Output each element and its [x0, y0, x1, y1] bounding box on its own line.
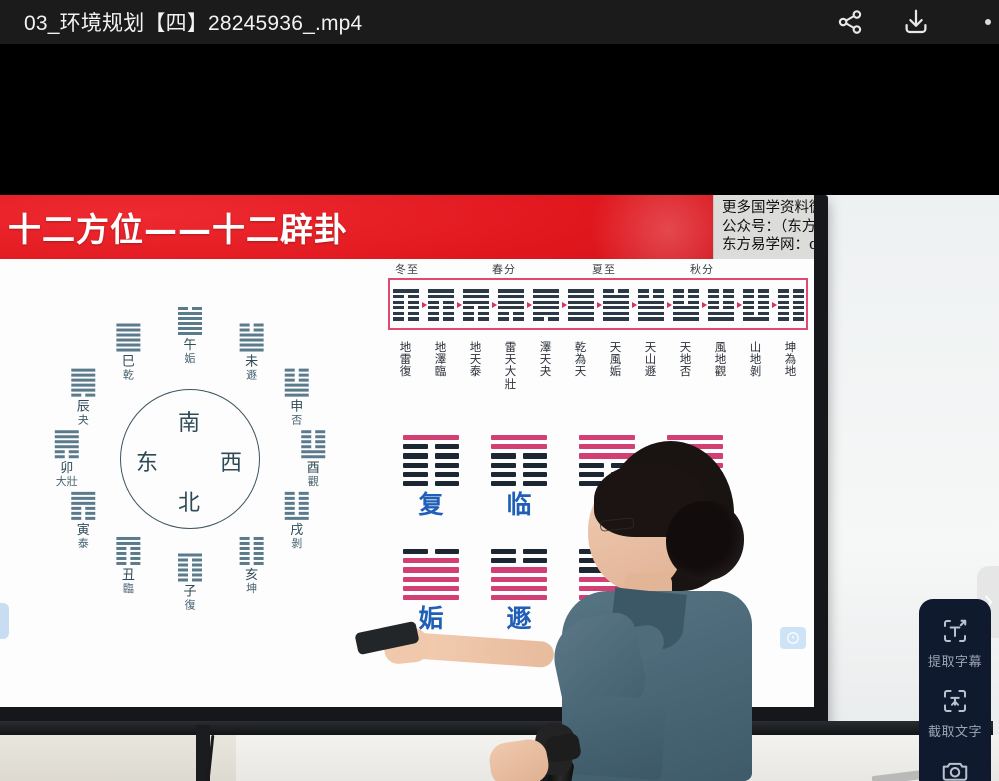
spoke-hexagram-symbol — [285, 492, 309, 520]
presenter — [516, 441, 766, 781]
earthly-branch-label: 午 — [178, 338, 202, 351]
slide-title-banner: 十二方位——十二辟卦 — [0, 195, 713, 259]
earthly-branch-label: 巳 — [116, 354, 140, 367]
hexagram-cell: 天地否 — [668, 289, 703, 320]
capture-text-button[interactable]: 截取文字 — [919, 681, 991, 747]
extract-subtitle-icon — [940, 616, 970, 646]
hexagram-name: 地雷復 — [396, 341, 416, 377]
spoke-hexagram-name: 乾 — [116, 370, 140, 381]
hexagram-cell: 乾為天 — [563, 289, 598, 320]
hexagram-cell: 澤天夬 — [528, 289, 563, 320]
spoke-hexagram-name: 夬 — [71, 415, 95, 426]
video-player-stage[interactable]: 十二方位——十二辟卦 更多国学资料微信：447039585 公众号：（东方易学堂… — [0, 44, 999, 781]
spoke-hexagram-symbol — [116, 324, 140, 352]
watermark-area: 更多国学资料微信：447039585 公众号：（东方易学堂6） 东方易学网：df… — [713, 195, 814, 259]
hexagram-name: 乾為天 — [571, 341, 591, 377]
more-icon[interactable] — [985, 19, 991, 25]
hexagram-name: 地天泰 — [466, 341, 486, 377]
hexagram-name: 坤為地 — [781, 341, 801, 377]
hexagram-symbol — [533, 289, 559, 320]
hexagram-cell: 雷天大壯 — [493, 289, 528, 320]
spoke-hexagram-name: 坤 — [240, 583, 264, 594]
spoke-hexagram-name: 泰 — [71, 538, 95, 549]
hexagram-symbol — [778, 289, 804, 320]
screenshot-icon — [940, 756, 970, 781]
board-hexagram-item: 姤 — [400, 549, 462, 631]
capture-text-icon — [940, 686, 970, 716]
header-actions — [835, 7, 985, 37]
watermark-line-1: 更多国学资料微信：447039585 — [722, 199, 814, 218]
spoke-hexagram-symbol — [71, 492, 95, 520]
hexagram-name: 風地觀 — [711, 341, 731, 377]
hexagram-symbol — [673, 289, 699, 320]
spoke-hexagram-symbol — [285, 369, 309, 397]
spoke-hexagram-symbol — [55, 430, 79, 458]
hexagram-name: 天地否 — [676, 341, 696, 377]
spoke-hexagram-symbol — [301, 430, 325, 458]
hexagram-cell: 山地剝 — [738, 289, 773, 320]
earthly-branch-label: 申 — [285, 399, 309, 412]
prev-video-button[interactable] — [0, 603, 9, 639]
presenter-hair-bun — [666, 501, 744, 581]
earthly-branch-label: 子 — [178, 584, 202, 597]
earthly-branch-label: 未 — [240, 354, 264, 367]
spoke-hexagram-name: 剝 — [285, 538, 309, 549]
season-label: 夏至 — [592, 261, 616, 277]
hexagram-name: 雷天大壯 — [501, 341, 521, 389]
hexagram-cell: 地雷復 — [388, 289, 423, 320]
hexagram-cell: 天風姤 — [598, 289, 633, 320]
spoke-hexagram-name: 姤 — [178, 354, 202, 365]
board-hexagram-item: 复 — [400, 435, 462, 517]
hexagram-cell: 地澤臨 — [423, 289, 458, 320]
slide-title: 十二方位——十二辟卦 — [8, 203, 348, 251]
earthly-branch-label: 戌 — [285, 522, 309, 535]
spoke-hexagram-symbol — [178, 307, 202, 335]
capture-text-label: 截取文字 — [928, 721, 982, 740]
desk-edge — [0, 721, 993, 735]
compass-direction-left: 东 — [136, 445, 158, 477]
hexagram-symbol — [568, 289, 594, 320]
compass-wheel: 南北东西 午姤未遯申否酉觀戌剝亥坤子復丑臨寅泰卯大壯辰夬巳乾 — [10, 279, 370, 639]
spoke-hexagram-symbol — [71, 369, 95, 397]
hexagram-cell: 天山遯 — [633, 289, 668, 320]
watermark-box: 更多国学资料微信：447039585 公众号：（东方易学堂6） 东方易学网：df… — [713, 195, 814, 259]
board-hexagram-label: 复 — [400, 492, 462, 517]
compass-direction-top: 南 — [178, 405, 200, 437]
video-file-title: 03_环境规划【四】28245936_.mp4 — [24, 7, 835, 37]
video-frame: 十二方位——十二辟卦 更多国学资料微信：447039585 公众号：（东方易学堂… — [0, 195, 999, 781]
earthly-branch-label: 卯 — [55, 461, 79, 474]
hexagram-symbol — [428, 289, 454, 320]
hexagram-cell: 坤為地 — [773, 289, 808, 320]
spoke-hexagram-symbol — [240, 324, 264, 352]
earthly-branch-label: 寅 — [71, 522, 95, 535]
spoke-hexagram-name: 觀 — [301, 477, 325, 488]
video-header-bar: 03_环境规划【四】28245936_.mp4 — [0, 0, 999, 44]
spoke-hexagram-name: 大壯 — [55, 477, 79, 488]
hexagram-symbol — [498, 289, 524, 320]
share-icon[interactable] — [835, 7, 865, 37]
watermark-line-3: 东方易学网：dfyx6.com — [722, 236, 814, 255]
hexagram-symbol — [743, 289, 769, 320]
board-hexagram-symbol — [403, 549, 459, 600]
hexagram-strip: 地雷復地澤臨地天泰雷天大壯澤天夬乾為天天風姤天山遯天地否風地觀山地剝坤為地 — [388, 283, 808, 327]
spoke-hexagram-symbol — [178, 553, 202, 581]
hexagram-name: 澤天夬 — [536, 341, 556, 377]
earthly-branch-label: 亥 — [240, 567, 264, 580]
hexagram-symbol — [463, 289, 489, 320]
compass-direction-right: 西 — [220, 445, 242, 477]
extract-subtitle-label: 提取字幕 — [928, 651, 982, 670]
hexagram-cell: 風地觀 — [703, 289, 738, 320]
hexagram-cell: 地天泰 — [458, 289, 493, 320]
hexagram-symbol — [393, 289, 419, 320]
hexagram-symbol — [708, 289, 734, 320]
spoke-hexagram-name: 否 — [285, 415, 309, 426]
extract-subtitle-button[interactable]: 提取字幕 — [919, 611, 991, 677]
spoke-hexagram-symbol — [116, 537, 140, 565]
hexagram-name: 山地剝 — [746, 341, 766, 377]
hexagram-name: 天風姤 — [606, 341, 626, 377]
presenter-lower-arm-sleeve — [565, 694, 666, 781]
watermark-line-2: 公众号：（东方易学堂6） — [722, 218, 814, 237]
earthly-branch-label: 辰 — [71, 399, 95, 412]
hexagram-symbol — [638, 289, 664, 320]
compass-direction-bottom: 北 — [178, 485, 200, 517]
video-tools-dock: 提取字幕 截取文字 视频截图 — [919, 599, 991, 781]
spoke-hexagram-symbol — [240, 537, 264, 565]
download-icon[interactable] — [901, 7, 931, 37]
spoke-hexagram-name: 臨 — [116, 583, 140, 594]
video-screenshot-button[interactable]: 视频截图 — [919, 751, 991, 781]
season-label: 秋分 — [690, 261, 714, 277]
season-label: 冬至 — [395, 261, 419, 277]
info-badge[interactable] — [780, 627, 806, 649]
hexagram-name: 天山遯 — [641, 341, 661, 377]
spoke-hexagram-name: 遯 — [240, 370, 264, 381]
hexagram-symbol — [603, 289, 629, 320]
spoke-hexagram-name: 復 — [178, 600, 202, 611]
earthly-branch-label: 丑 — [116, 567, 140, 580]
season-label: 春分 — [492, 261, 516, 277]
board-hexagram-symbol — [403, 435, 459, 486]
hexagram-name: 地澤臨 — [431, 341, 451, 377]
earthly-branch-label: 酉 — [301, 461, 325, 474]
